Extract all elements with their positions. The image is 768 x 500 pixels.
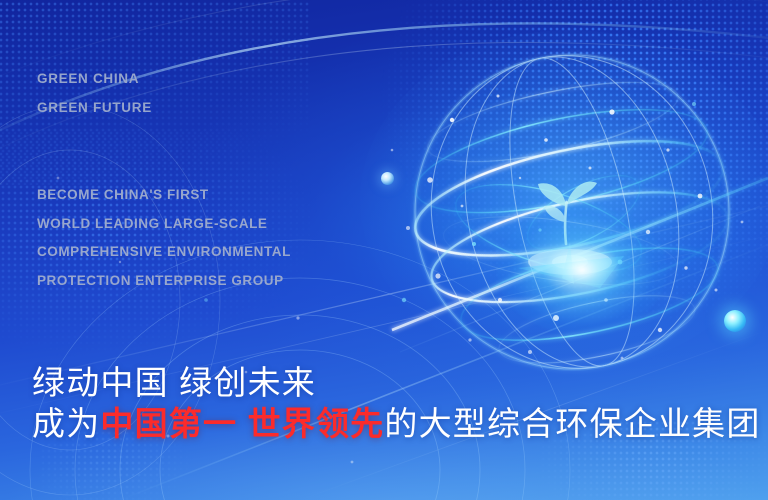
subhead-line-4: PROTECTION ENTERPRISE GROUP (37, 267, 291, 296)
headline-highlight: 中国第一 世界领先 (100, 405, 384, 442)
hero-banner: GREEN CHINA GREEN FUTURE BECOME CHINA'S … (0, 0, 768, 500)
glowing-orb-left (381, 172, 394, 185)
eyebrow-text-block: GREEN CHINA GREEN FUTURE (37, 64, 152, 122)
eyebrow-line-2: GREEN FUTURE (37, 93, 152, 122)
eyebrow-line-1: GREEN CHINA (37, 64, 152, 93)
subhead-text-block: BECOME CHINA'S FIRST WORLD LEADING LARGE… (37, 181, 291, 295)
core-glow (497, 205, 667, 335)
subhead-line-1: BECOME CHINA'S FIRST (37, 181, 291, 210)
subhead-line-3: COMPREHENSIVE ENVIRONMENTAL (37, 238, 291, 267)
halftone-map-top-right (380, 0, 768, 320)
sphere-ambient-glow (360, 30, 768, 370)
headline-suffix: 的大型综合环保企业集团 (384, 405, 760, 442)
headline-prefix: 成为 (32, 405, 100, 442)
headline-block: 绿动中国 绿创未来 成为中国第一 世界领先的大型综合环保企业集团 (32, 362, 761, 444)
glowing-orb-right (724, 310, 746, 332)
headline-line-1: 绿动中国 绿创未来 (32, 362, 761, 403)
core-light-burst (518, 242, 624, 288)
subhead-line-2: WORLD LEADING LARGE-SCALE (37, 210, 291, 239)
headline-line-2: 成为中国第一 世界领先的大型综合环保企业集团 (32, 403, 761, 444)
sprout-seedling-icon (538, 182, 597, 244)
